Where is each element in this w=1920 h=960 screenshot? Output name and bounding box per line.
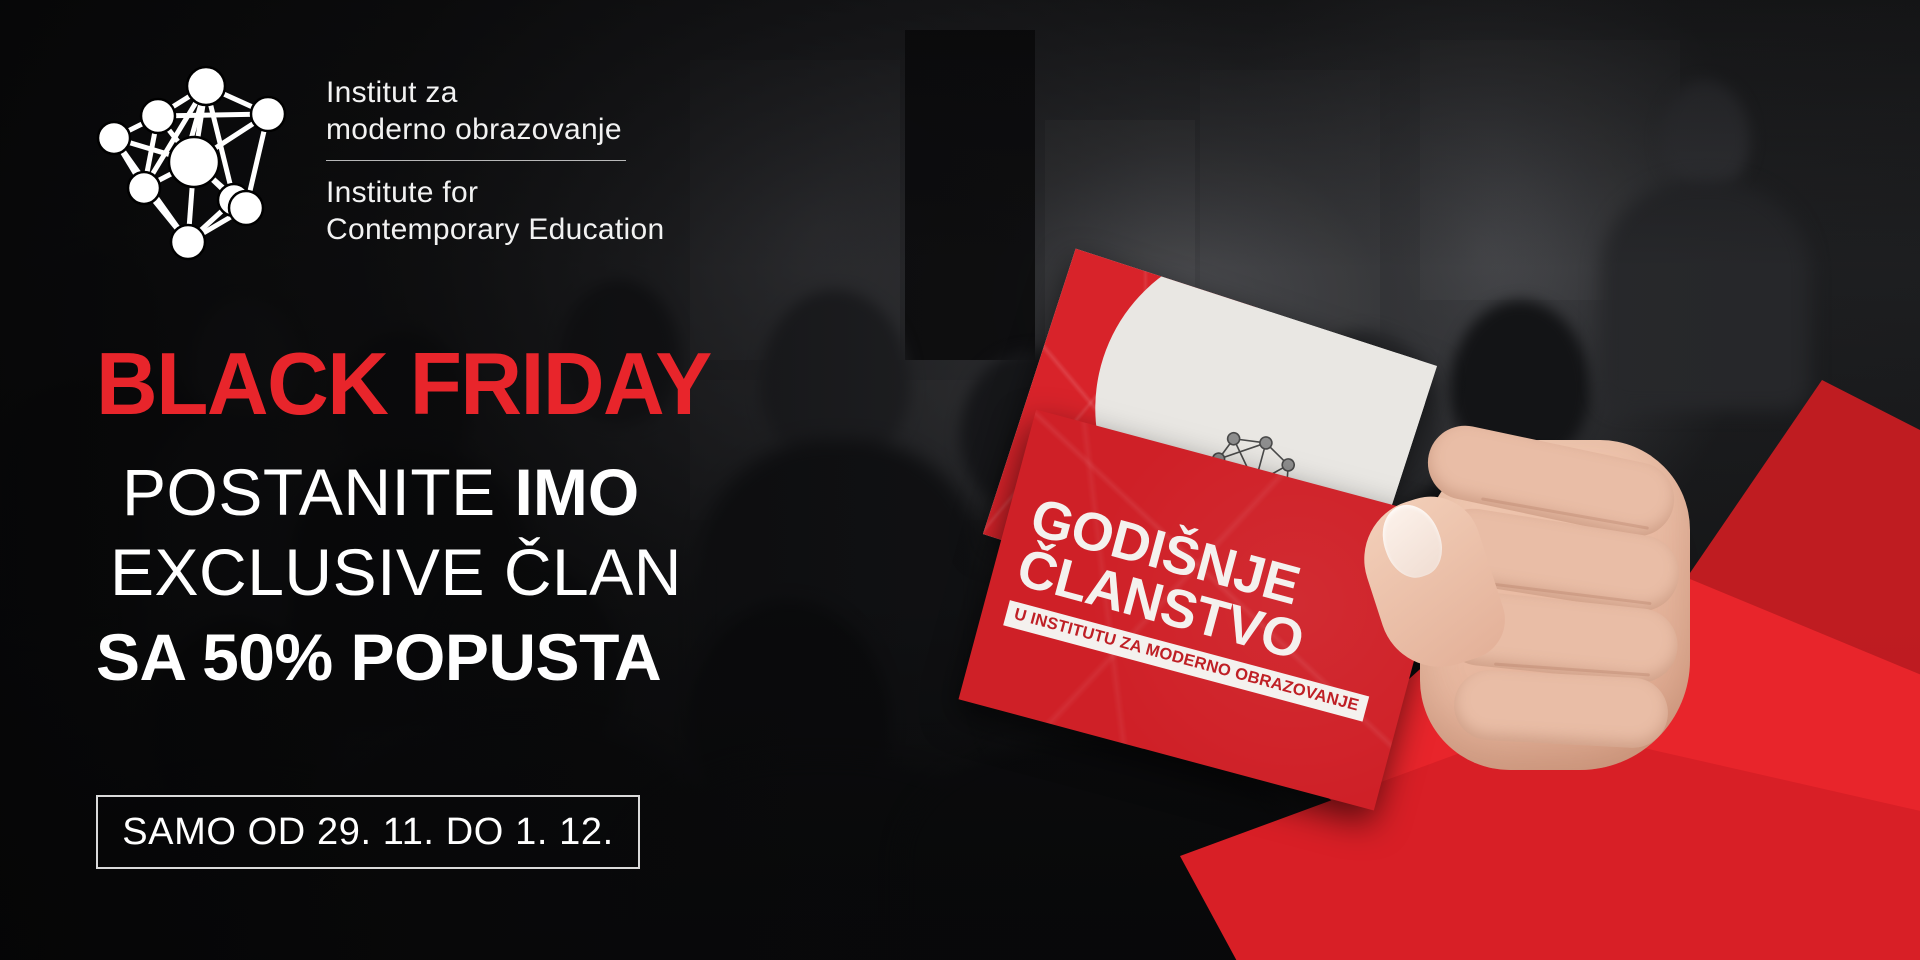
hand-holding-card (1330, 400, 1750, 820)
promo-subline-1-bold: IMO (515, 455, 640, 529)
finger-little (1452, 668, 1669, 749)
promo-subline-1-light: POSTANITE (122, 455, 496, 529)
network-nodes-icon (88, 52, 300, 264)
wordmark-divider (326, 160, 626, 161)
brand-name-sr-line2: moderno obrazovanje (326, 111, 664, 148)
promo-date-text: SAMO OD 29. 11. DO 1. 12. (122, 811, 614, 854)
brand-name-en-line1: Institute for (326, 174, 664, 211)
promo-banner: Institut za moderno obrazovanje Institut… (0, 0, 1920, 960)
promo-subline-2: EXCLUSIVE ČLAN (96, 532, 736, 612)
promo-date-box: SAMO OD 29. 11. DO 1. 12. (96, 795, 640, 869)
brand-name-en-line2: Contemporary Education (326, 211, 664, 248)
promo-subline-1: POSTANITE IMO (96, 452, 736, 532)
brand-name-sr-line1: Institut za (326, 74, 664, 111)
brand-wordmark: Institut za moderno obrazovanje Institut… (326, 68, 664, 248)
brand-logo: Institut za moderno obrazovanje Institut… (88, 52, 664, 264)
promo-discount-line: SA 50% POPUSTA (96, 616, 736, 698)
promo-copy: BLACK FRIDAY POSTANITE IMO EXCLUSIVE ČLA… (96, 340, 736, 698)
promo-headline: BLACK FRIDAY (96, 340, 717, 428)
